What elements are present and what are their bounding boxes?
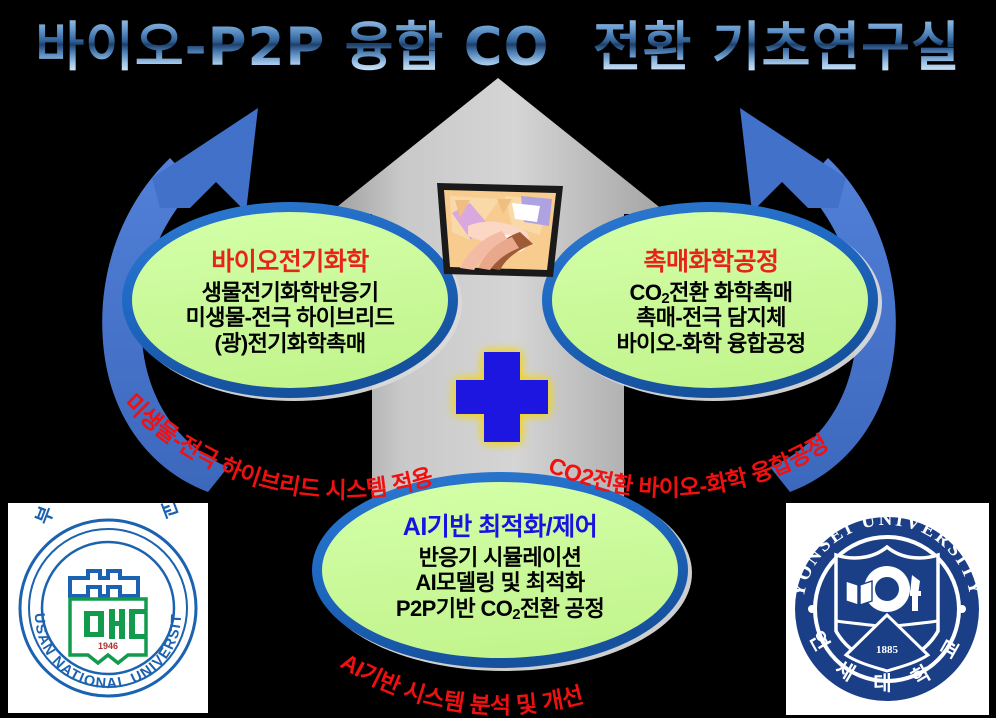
pnu-year: 1946 [98,641,118,651]
yonsei-ring-inner [875,577,899,601]
yonsei-dot-right [958,605,966,613]
yonsei-logo-svg: YONSEI UNIVERSITY 연 세 대 학 교 1885 [786,503,989,715]
joined-hands-clipart [437,183,563,277]
poster-canvas: 미생물-전극 하이브리드 시스템 적용 CO2전환 바이오-화학 융합공정 AI… [0,0,996,718]
pnu-logo-svg: 부 산 대 학 교 PUSAN NATIONAL UNIVERSITY 1946 [8,503,208,713]
node-ai-optimization-control[interactable] [312,472,692,671]
yonsei-dot-left [808,605,816,613]
yonsei-year: 1885 [876,644,899,656]
logo-pusan-national-university[interactable]: 부 산 대 학 교 PUSAN NATIONAL UNIVERSITY 1946 [8,503,208,713]
logo-yonsei-university[interactable]: YONSEI UNIVERSITY 연 세 대 학 교 1885 [786,503,989,715]
